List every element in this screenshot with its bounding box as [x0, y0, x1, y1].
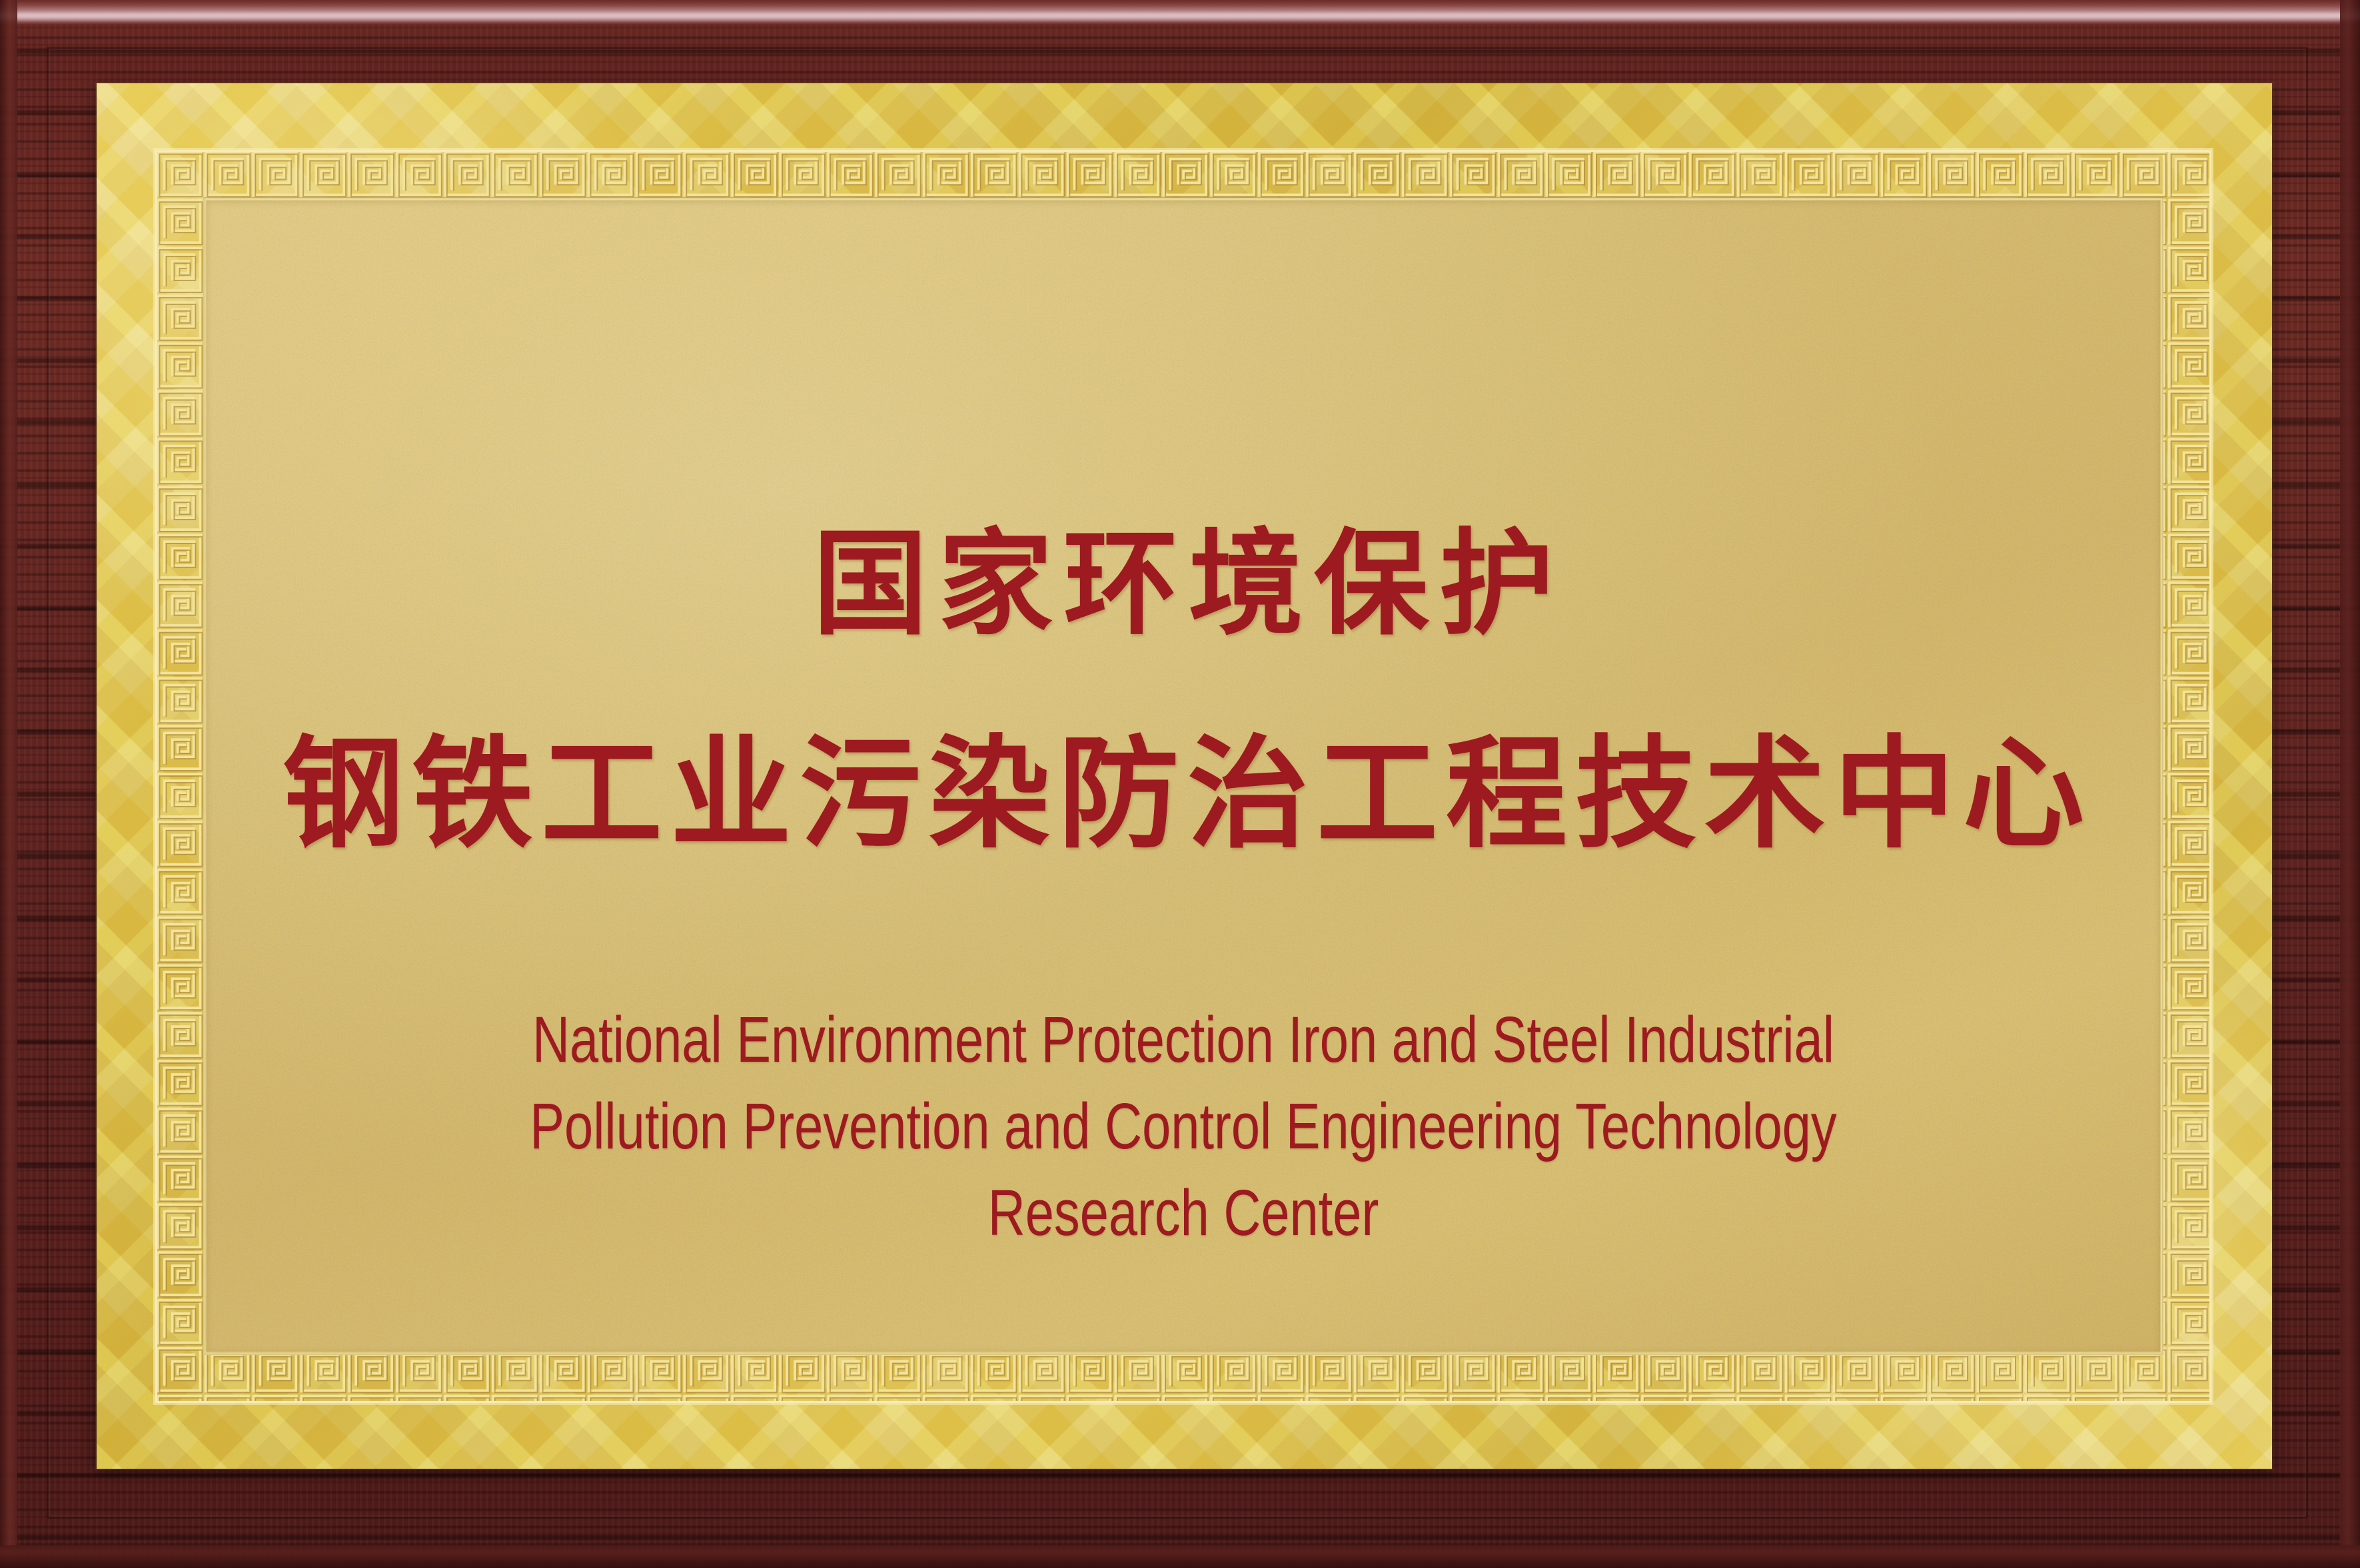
frame-right-bevel	[2340, 0, 2360, 1568]
frame-bottom-bevel	[0, 1545, 2360, 1568]
subtitle-english-line-2: Pollution Prevention and Control Enginee…	[384, 1083, 1983, 1170]
frame-left-bevel	[0, 0, 17, 1568]
title-chinese-line-2: 钢铁工业污染防治工程技术中心	[275, 733, 2092, 855]
inscription-panel: 国家环境保护 钢铁工业污染防治工程技术中心 National Environme…	[207, 200, 2160, 1352]
subtitle-english-line-3: Research Center	[384, 1170, 1983, 1256]
title-chinese-line-1: 国家环境保护	[802, 527, 1564, 641]
plaque-screenshot: 国家环境保护 钢铁工业污染防治工程技术中心 National Environme…	[0, 0, 2360, 1568]
frame-top-bevel	[0, 0, 2360, 25]
frame-top-sheen	[0, 13, 2360, 21]
subtitle-english-line-1: National Environment Protection Iron and…	[384, 996, 1983, 1083]
gold-plate: 国家环境保护 钢铁工业污染防治工程技术中心 National Environme…	[97, 83, 2272, 1469]
inscription-text: 国家环境保护 钢铁工业污染防治工程技术中心 National Environme…	[207, 200, 2160, 1352]
subtitle-english: National Environment Protection Iron and…	[384, 996, 1983, 1256]
